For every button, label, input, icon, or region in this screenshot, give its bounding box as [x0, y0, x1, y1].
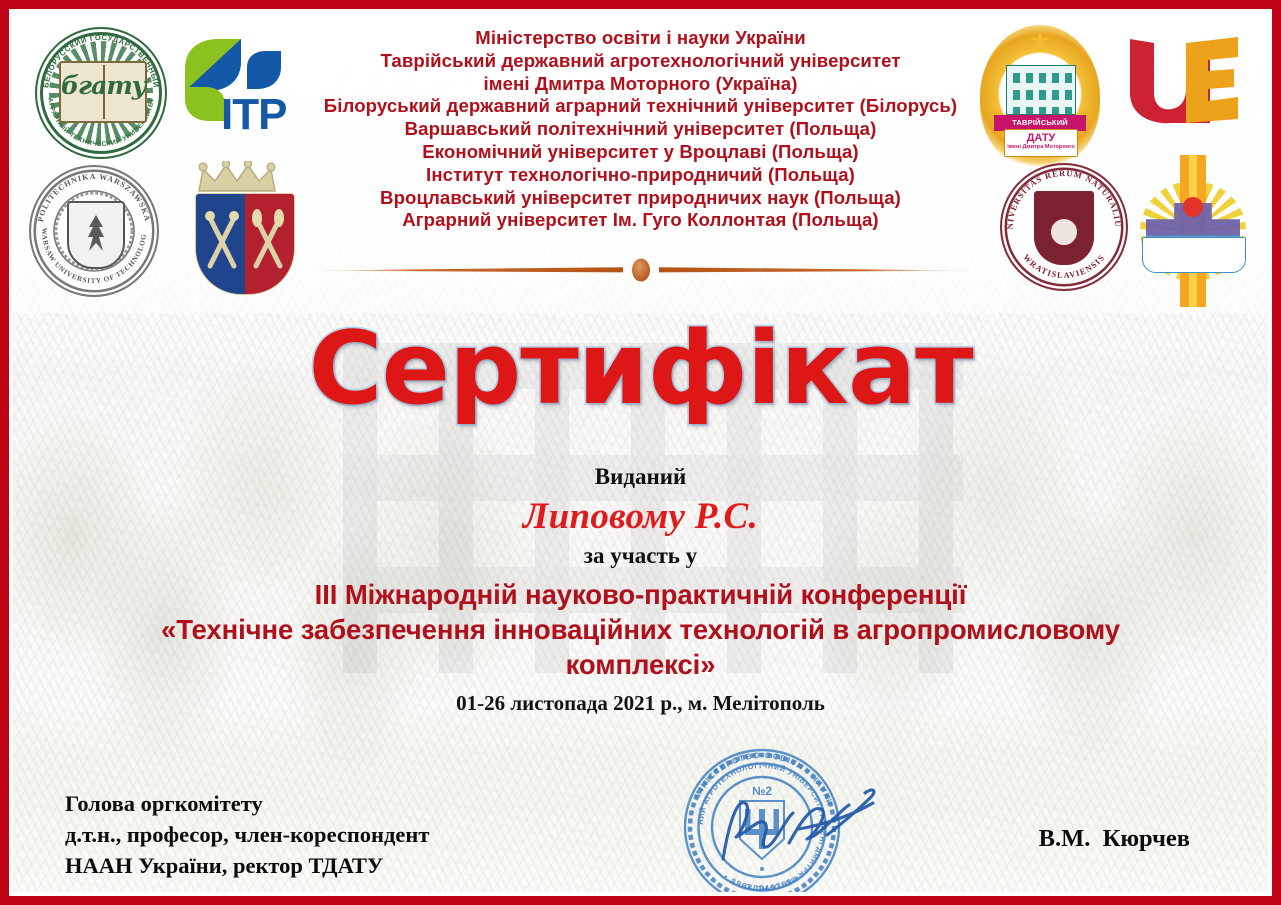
faculty-red-dot-icon — [1183, 197, 1203, 217]
tdatu-book-icon: ДАТУ імені Дмитра Моторного — [1004, 129, 1078, 157]
bgatu-book-icon: бгату — [59, 61, 147, 123]
participation-label: за участь у — [13, 541, 1268, 571]
certificate-body: Виданий Липовому Р.С. за участь у III Мі… — [13, 463, 1268, 717]
decorative-divider — [301, 257, 981, 283]
handwritten-signature — [703, 773, 893, 883]
signature-role-line-1: Голова оргкомітету — [65, 788, 429, 819]
tdatu-acronym: ДАТУ — [1005, 132, 1077, 144]
logo-warsaw-university-of-technology: POLITECHNIKA WARSZAWSKA WARSAW UNIVERSIT… — [29, 165, 159, 297]
tdatu-building-icon — [1006, 65, 1076, 115]
wroclaw-medallion-icon — [1049, 217, 1079, 247]
signature-role-line-3: НААН України, ректор ТДАТУ — [65, 850, 429, 881]
signature-block: Голова оргкомітету д.т.н., професор, чле… — [65, 788, 429, 881]
bgatu-monogram: бгату — [61, 71, 145, 100]
logo-ue-wroclaw-economics — [1124, 35, 1244, 125]
logo-bgatu: БЕЛОРУССКИЙ ГОСУДАРСТВЕННЫЙ АГРАРНЫЙ ТЕХ… — [35, 27, 167, 159]
conference-line-2: «Технічне забезпечення інноваційних техн… — [13, 612, 1268, 647]
page-title: Сертифікат — [308, 313, 972, 423]
certificate-document: Міністерство освіти і науки України Тавр… — [0, 0, 1281, 905]
conference-line-3: комплексі» — [13, 647, 1268, 682]
logo-tdatu: ⚜ ТАВРІЙСЬКИЙ ДАТУ імені Дмитра Моторног… — [980, 25, 1100, 169]
hk-shield-icon — [195, 193, 295, 295]
issued-label: Виданий — [13, 463, 1268, 491]
wut-shield-icon — [67, 201, 125, 269]
logo-itp: ITP — [181, 35, 313, 143]
ue-wordmark-icon — [1124, 35, 1244, 125]
conference-line-1: III Міжнародній науково-практичній конфе… — [13, 577, 1268, 612]
signatory-name: В.М. Кюрчев — [1039, 825, 1190, 853]
recipient-name: Липовому Р.С. — [13, 493, 1268, 540]
faculty-book-right-text — [1194, 238, 1245, 272]
signature-role-line-2: д.т.н., професор, член-кореспондент — [65, 819, 429, 850]
conference-date-location: 01-26 листопада 2021 р., м. Мелітополь — [13, 689, 1268, 717]
logo-wroclaw-university: UNIVERSITAS RERUM NATURALIUM WRATISLAVIE… — [1000, 163, 1128, 291]
itp-wordmark: ITP — [221, 93, 286, 137]
faculty-book-left-text — [1143, 238, 1194, 272]
tdatu-subtitle: імені Дмитра Моторного — [1005, 144, 1077, 150]
certificate-inner-frame: Міністерство освіти і науки України Тавр… — [13, 13, 1268, 892]
logo-hugo-kollataj-university — [183, 161, 305, 301]
logo-tdatu-faculty — [1134, 155, 1252, 307]
faculty-book-icon — [1142, 237, 1246, 273]
certificate-title-wrap: Сертифікат — [13, 313, 1268, 423]
crown-icon — [195, 161, 293, 195]
trident-icon: ⚜ — [1029, 31, 1051, 55]
wroclaw-shield-icon — [1034, 191, 1094, 265]
